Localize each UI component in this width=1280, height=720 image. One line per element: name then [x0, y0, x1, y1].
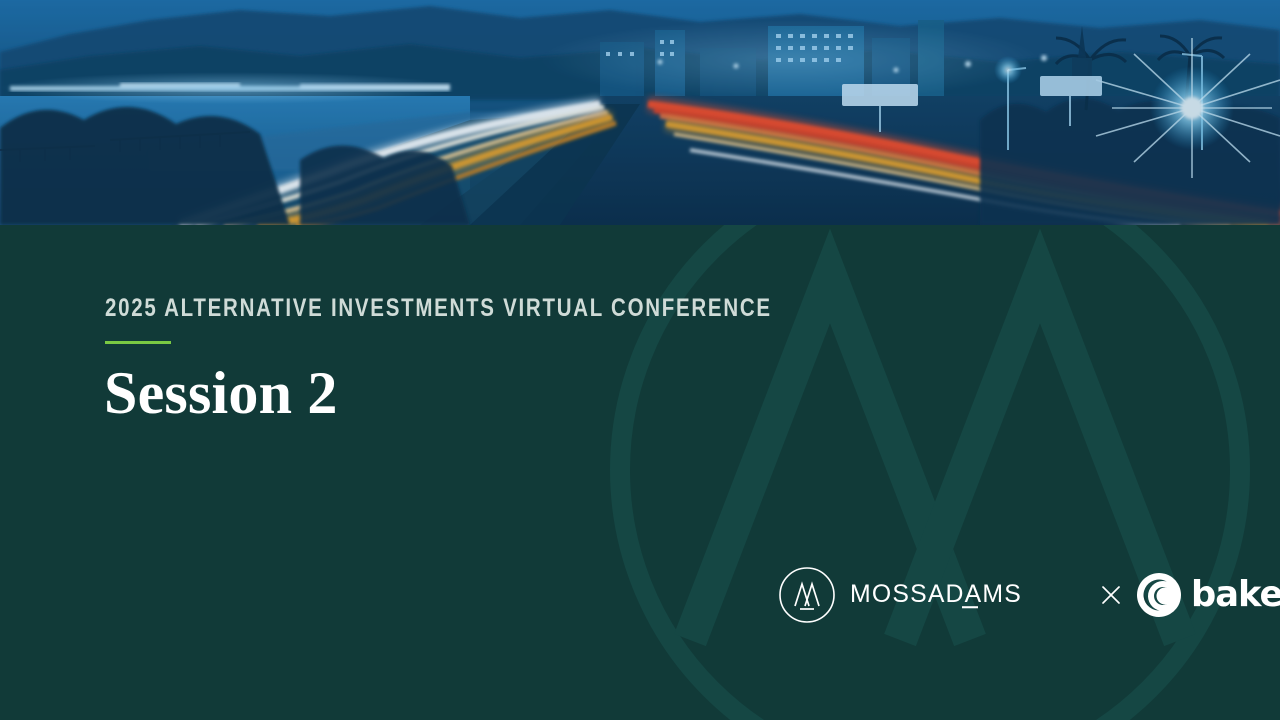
baker-tilly-wordmark-label: bakertilly — [1191, 574, 1280, 615]
moss-adams-a-underline — [962, 606, 978, 608]
moss-adams-monogram-icon — [778, 566, 836, 624]
eyebrow-text: 2025 ALTERNATIVE INVESTMENTS VIRTUAL CON… — [105, 296, 772, 321]
lockup-separator-icon — [1098, 582, 1124, 608]
baker-tilly-wordmark-text: bakertilly — [1191, 568, 1280, 622]
session-title-slide: 2025 ALTERNATIVE INVESTMENTS VIRTUAL CON… — [0, 0, 1280, 720]
moss-adams-wordmark: MOSSADAMS — [850, 579, 1082, 611]
page-title: Session 2 — [104, 363, 338, 423]
hero-photo-band — [0, 0, 1280, 225]
baker-tilly-wordmark: bakertilly — [1191, 568, 1280, 622]
baker-tilly-spiral-icon — [1136, 572, 1182, 618]
accent-rule — [105, 341, 171, 344]
moss-adams-wordmark-text: MOSSADAMS — [850, 579, 1082, 611]
night-highway-photo — [0, 0, 1280, 225]
logo-lockup: MOSSADAMS bakertilly — [778, 560, 1228, 630]
moss-adams-wordmark-label: MOSSADAMS — [850, 581, 1022, 608]
